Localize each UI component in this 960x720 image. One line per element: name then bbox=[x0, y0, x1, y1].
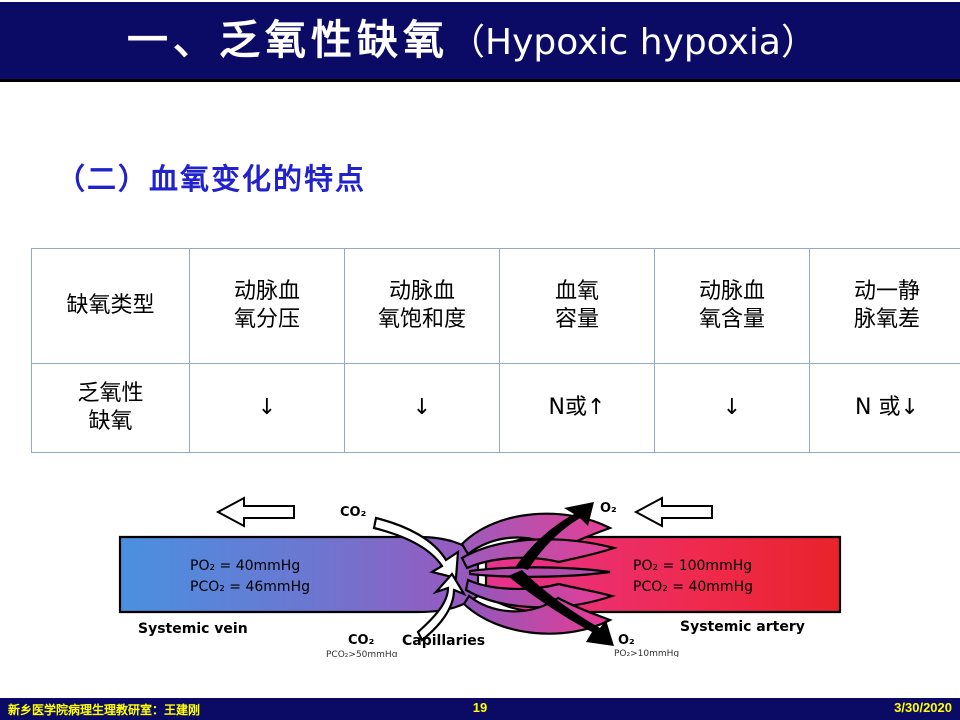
vein-pco2-label: PCO₂ = 46mmHg bbox=[190, 579, 310, 595]
table-cell-sao2: ↓ bbox=[345, 364, 500, 453]
capillaries-label: Capillaries bbox=[402, 633, 485, 649]
co2-top-label: CO₂ bbox=[340, 505, 366, 520]
table-cell-content: ↓ bbox=[655, 364, 810, 453]
page-title: 一、乏氧性缺氧（Hypoxic hypoxia） bbox=[127, 20, 817, 61]
blood-oxygen-table: 缺氧类型 动脉血氧分压 动脉血氧饱和度 血氧容量 动脉血氧含量 动一静脉氧差 乏… bbox=[31, 248, 960, 453]
artery-pco2-label: PCO₂ = 40mmHg bbox=[633, 579, 753, 595]
co2-bottom-value: PCO₂>50mmHg bbox=[326, 650, 397, 657]
section-subheading: （二）血氧变化的特点 bbox=[56, 156, 366, 198]
flow-arrow-right bbox=[636, 498, 712, 526]
artery-po2-label: PO₂ = 100mmHg bbox=[633, 558, 752, 574]
page-title-english: （Hypoxic hypoxia） bbox=[449, 22, 817, 63]
table-header-cell-content: 动脉血氧含量 bbox=[655, 249, 810, 364]
footer-date: 3/30/2020 bbox=[894, 700, 952, 715]
table-header-cell-sao2: 动脉血氧饱和度 bbox=[345, 249, 500, 364]
co2-bottom-label: CO₂ bbox=[348, 633, 374, 648]
table-header-cell-av-diff: 动一静脉氧差 bbox=[810, 249, 960, 364]
table-header-cell-pao2: 动脉血氧分压 bbox=[190, 249, 345, 364]
systemic-vein-label: Systemic vein bbox=[138, 621, 248, 637]
table-header-row: 缺氧类型 动脉血氧分压 动脉血氧饱和度 血氧容量 动脉血氧含量 动一静脉氧差 bbox=[32, 249, 960, 364]
flow-arrow-left bbox=[218, 498, 294, 526]
gas-exchange-diagram: PO₂ = 40mmHg PCO₂ = 46mmHg PO₂ = 100mmHg… bbox=[118, 492, 842, 657]
table-row: 乏氧性缺氧 ↓ ↓ N或↑ ↓ N 或↓ bbox=[32, 364, 960, 453]
table-header-cell-capacity: 血氧容量 bbox=[500, 249, 655, 364]
table-cell-pao2: ↓ bbox=[190, 364, 345, 453]
table-cell-row-label: 乏氧性缺氧 bbox=[32, 364, 190, 453]
page-title-chinese: 一、乏氧性缺氧 bbox=[127, 16, 449, 64]
vein-po2-label: PO₂ = 40mmHg bbox=[190, 558, 300, 574]
table-header-cell-type: 缺氧类型 bbox=[32, 249, 190, 364]
slide-title-banner: 一、乏氧性缺氧（Hypoxic hypoxia） bbox=[0, 2, 960, 82]
systemic-artery-label: Systemic artery bbox=[680, 619, 805, 635]
table-cell-av-diff: N 或↓ bbox=[810, 364, 960, 453]
table-cell-capacity: N或↑ bbox=[500, 364, 655, 453]
o2-top-label: O₂ bbox=[600, 501, 617, 516]
footer-page-number: 19 bbox=[0, 700, 960, 715]
o2-bottom-label: O₂ bbox=[618, 633, 635, 648]
capillary-network bbox=[462, 514, 614, 634]
o2-bottom-value: PO₂>10mmHg bbox=[614, 649, 679, 657]
